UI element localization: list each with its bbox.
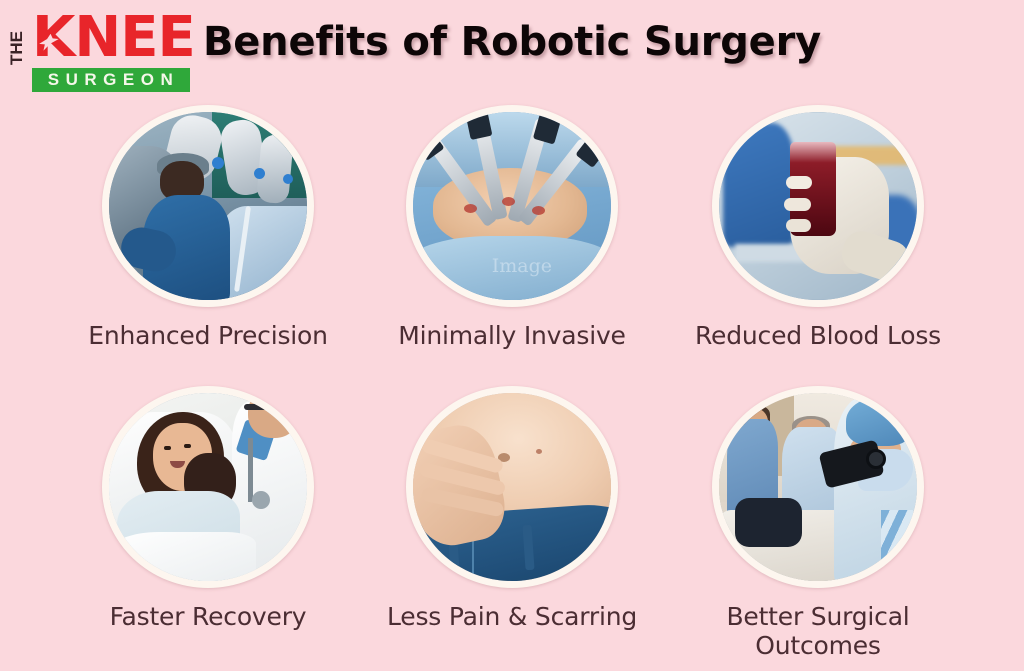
smiling-patient-with-doctor-photo — [109, 393, 307, 581]
infographic-page: { "brand": { "the": "THE", "main": "KNEE… — [0, 0, 1024, 671]
benefit-label: Minimally Invasive — [362, 321, 662, 350]
benefit-item-minimally-invasive[interactable]: Image Minimally Invasive — [362, 105, 662, 350]
benefits-grid: Enhanced Precision Image Minimally Invas… — [0, 105, 1024, 665]
benefit-image-frame: Image — [406, 105, 618, 307]
page-title: Benefits of Robotic Surgery — [0, 19, 1024, 65]
benefit-label: Reduced Blood Loss — [668, 321, 968, 350]
benefit-image-frame — [712, 386, 924, 588]
benefit-item-enhanced-precision[interactable]: Enhanced Precision — [58, 105, 358, 350]
benefit-label: Faster Recovery — [58, 602, 358, 631]
image-watermark: Image — [476, 255, 567, 289]
logo-surgeon-text: SURGEON — [32, 68, 190, 92]
benefit-item-less-pain-scarring[interactable]: Less Pain & Scarring — [362, 386, 662, 631]
benefit-item-faster-recovery[interactable]: Faster Recovery — [58, 386, 358, 631]
benefit-label: Less Pain & Scarring — [362, 602, 662, 631]
benefit-image-frame — [406, 386, 618, 588]
benefit-image-frame — [712, 105, 924, 307]
benefit-item-better-surgical-outcomes[interactable]: Better Surgical Outcomes — [668, 386, 968, 660]
benefit-item-reduced-blood-loss[interactable]: Reduced Blood Loss — [668, 105, 968, 350]
surgeon-at-robotic-console-photo — [109, 112, 307, 300]
benefit-label: Enhanced Precision — [58, 321, 358, 350]
benefit-label: Better Surgical Outcomes — [668, 602, 968, 660]
hospital-room-patient-staff-photo — [719, 393, 917, 581]
benefit-image-frame — [102, 105, 314, 307]
gloved-hand-blood-container-photo — [719, 112, 917, 300]
abdomen-small-scars-photo — [413, 393, 611, 581]
benefit-image-frame — [102, 386, 314, 588]
laparoscopic-instruments-abdomen-photo: Image — [413, 112, 611, 300]
